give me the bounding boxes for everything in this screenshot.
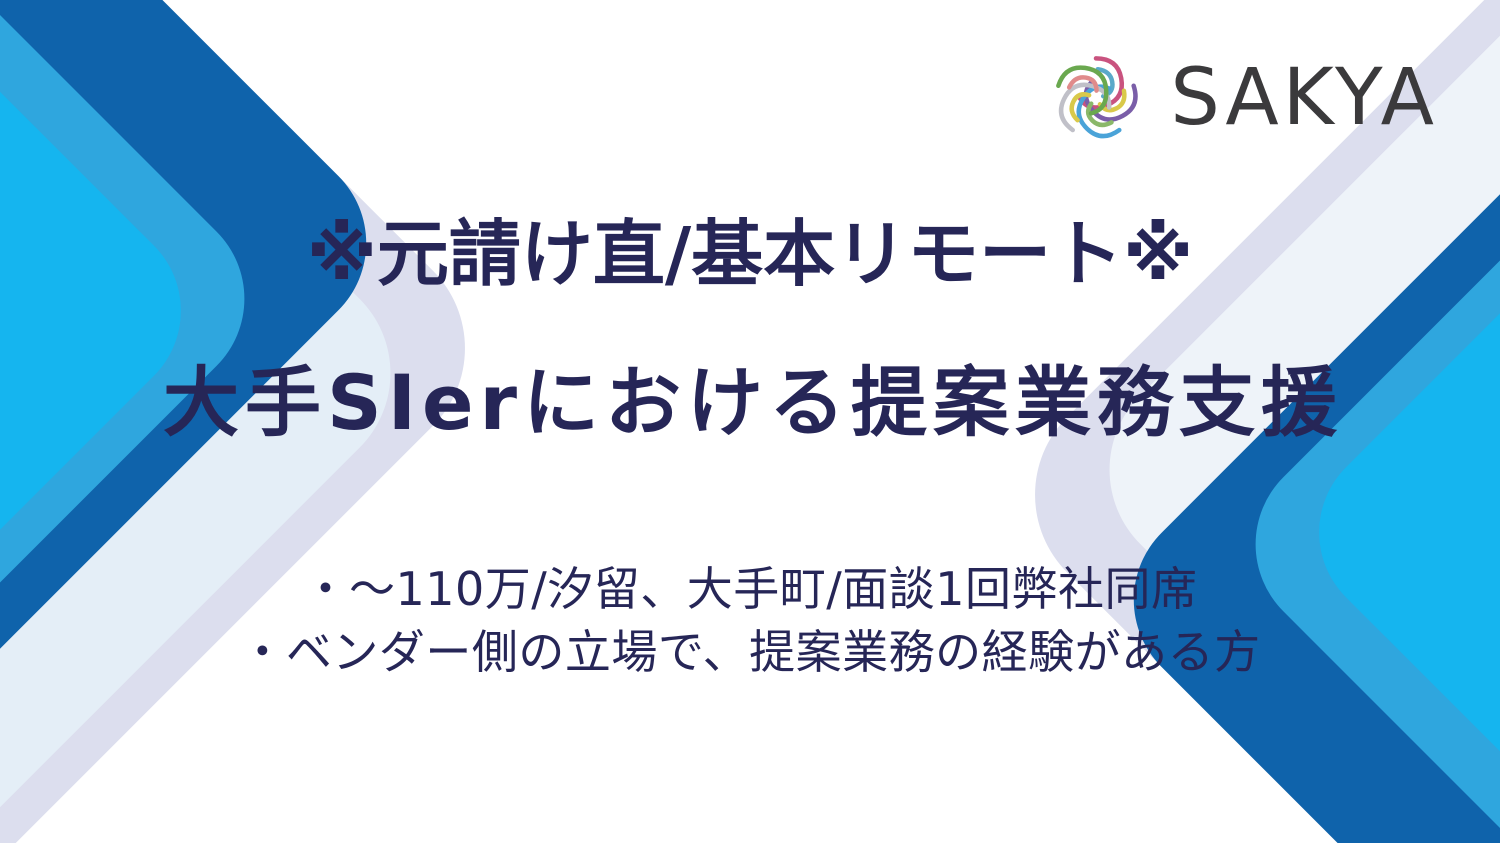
slide-canvas: SAKYA ※元請け直/基本リモート※ 大手SIerにおける提案業務支援 ・～1… (0, 0, 1500, 843)
bullet-item-1: ・～110万/汐留、大手町/面談1回弊社同席 (0, 558, 1500, 621)
bullet-list: ・～110万/汐留、大手町/面談1回弊社同席 ・ベンダー側の立場で、提案業務の経… (0, 558, 1500, 685)
bullet-item-2: ・ベンダー側の立場で、提案業務の経験がある方 (0, 621, 1500, 684)
headline-line-1: ※元請け直/基本リモート※ (0, 214, 1500, 295)
text-content: ※元請け直/基本リモート※ 大手SIerにおける提案業務支援 ・～110万/汐留… (0, 0, 1500, 843)
headline-line-2: 大手SIerにおける提案業務支援 (0, 360, 1500, 445)
